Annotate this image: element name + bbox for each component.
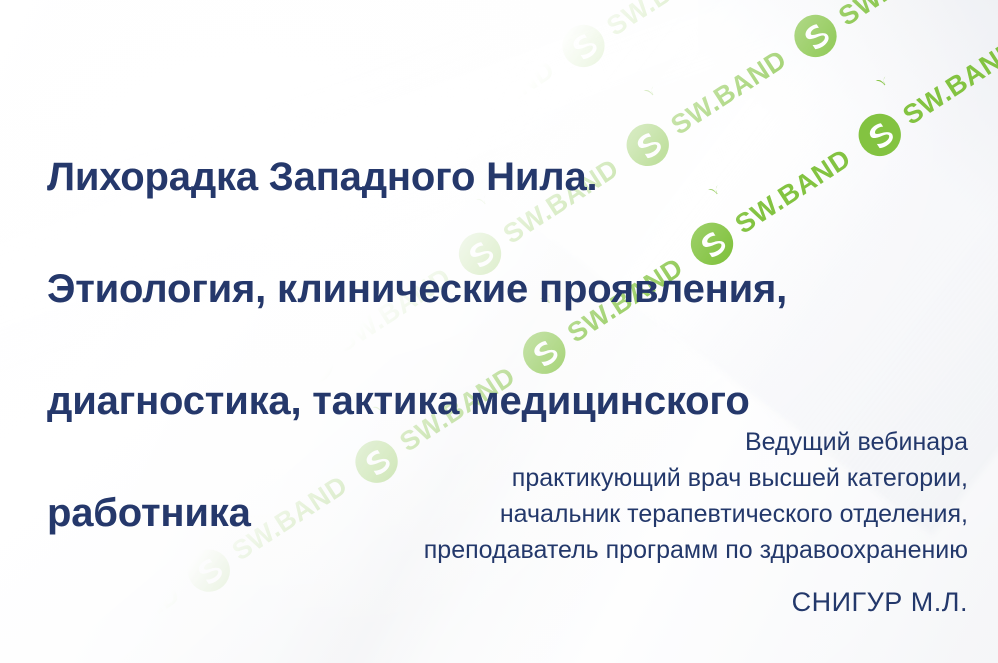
presenter-name: СНИГУР М.Л. [248,584,968,620]
title-line-2: Этиология, клинические проявления, [47,261,937,317]
title-line-3: диагностика, тактика медицинского [47,373,937,429]
presentation-slide: SW.BANDSW.BANDSW.BANDSW.BANDSW.BANDSW.BA… [0,0,998,663]
presenter-role-line-2: практикующий врач высшей категории, [248,460,968,496]
presenter-block: Ведущий вебинара практикующий врач высше… [248,424,968,620]
presenter-role-line-4: преподаватель программ по здравоохранени… [248,532,968,568]
presenter-role-line-1: Ведущий вебинара [248,424,968,460]
presenter-role-line-3: начальник терапевтического отделения, [248,496,968,532]
title-line-1: Лихорадка Западного Нила. [47,149,937,205]
